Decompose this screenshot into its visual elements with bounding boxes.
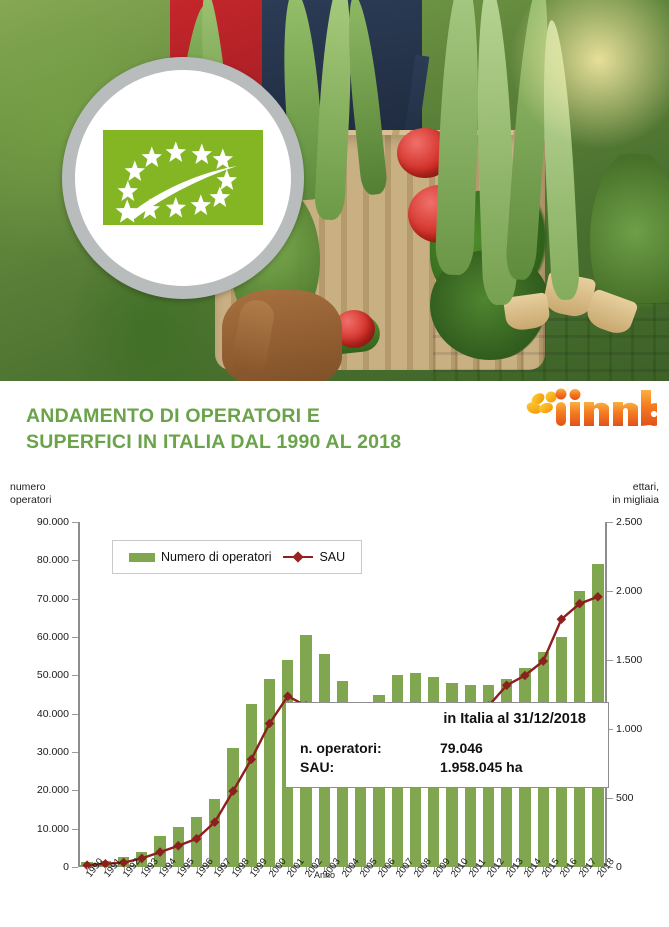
eu-organic-badge-inner	[75, 70, 291, 286]
left-axis-caption-line-2: operatori	[10, 494, 51, 507]
legend-item-operatori: Numero di operatori	[129, 550, 271, 564]
legend-bar-swatch-icon	[129, 553, 155, 562]
page-root: ANDAMENTO DI OPERATORI E SUPERFICI IN IT…	[0, 0, 669, 927]
legend-label-operatori: Numero di operatori	[161, 550, 271, 564]
legend-label-sau: SAU	[319, 550, 345, 564]
sau-marker-1995	[173, 841, 183, 851]
eu-organic-logo-icon	[103, 130, 263, 225]
infobox-heading: in Italia al 31/12/2018	[300, 711, 594, 727]
y-axis-right-tick-label: 1.500	[616, 654, 642, 666]
y-axis-right-tick-label: 500	[616, 792, 634, 804]
eu-organic-badge	[62, 57, 304, 299]
left-axis-caption-line-1: numero	[10, 481, 51, 494]
legend-item-sau: SAU	[283, 550, 345, 564]
y-axis-left-tick-label: 10.000	[37, 823, 69, 835]
hero-photo	[0, 0, 669, 381]
page-title: ANDAMENTO DI OPERATORI E SUPERFICI IN IT…	[26, 403, 496, 455]
sau-marker-1999	[246, 755, 256, 765]
y-axis-left-tick	[72, 867, 78, 868]
y-axis-left-tick-label: 0	[63, 861, 69, 873]
y-axis-right-tick-label: 2.500	[616, 516, 642, 528]
right-axis-caption-line-1: ettari,	[612, 481, 659, 494]
y-axis-right-tick	[607, 522, 613, 523]
sau-marker-1994	[155, 847, 165, 857]
y-axis-right-tick	[607, 798, 613, 799]
chart-panel: ANDAMENTO DI OPERATORI E SUPERFICI IN IT…	[0, 381, 669, 927]
sau-marker-2018	[593, 592, 603, 602]
summary-infobox: in Italia al 31/12/2018 n. operatori: 79…	[285, 702, 609, 788]
left-axis-caption: numero operatori	[10, 481, 51, 507]
y-axis-left-tick-label: 80.000	[37, 554, 69, 566]
infobox-row-sau: SAU: 1.958.045 ha	[300, 758, 594, 777]
x-axis-title: Anno	[314, 870, 335, 880]
y-axis-left-tick-label: 70.000	[37, 593, 69, 605]
page-title-line-1: ANDAMENTO DI OPERATORI E	[26, 403, 496, 429]
infobox-value-operatori: 79.046	[440, 739, 594, 758]
y-axis-left-tick-label: 50.000	[37, 669, 69, 681]
sinab-logo-icon	[525, 386, 657, 430]
y-axis-right-tick-label: 1.000	[616, 723, 642, 735]
y-axis-left-tick-label: 90.000	[37, 516, 69, 528]
chart-plot-area: 010.00020.00030.00040.00050.00060.00070.…	[78, 522, 607, 867]
right-axis-caption-line-2: in migliaia	[612, 494, 659, 507]
y-axis-left-tick-label: 20.000	[37, 784, 69, 796]
y-axis-left-tick-label: 40.000	[37, 708, 69, 720]
infobox-key-operatori: n. operatori:	[300, 739, 440, 758]
y-axis-right-tick-label: 2.000	[616, 585, 642, 597]
infobox-value-sau: 1.958.045 ha	[440, 758, 594, 777]
chart-legend: Numero di operatori SAU	[112, 540, 362, 574]
infobox-row-operatori: n. operatori: 79.046	[300, 739, 594, 758]
legend-line-swatch-icon	[283, 552, 313, 562]
infobox-key-sau: SAU:	[300, 758, 440, 777]
y-axis-right-tick	[607, 591, 613, 592]
y-axis-right-tick	[607, 660, 613, 661]
y-axis-left-tick-label: 60.000	[37, 631, 69, 643]
page-title-line-2: SUPERFICI IN ITALIA DAL 1990 AL 2018	[26, 429, 496, 455]
y-axis-left-tick-label: 30.000	[37, 746, 69, 758]
right-axis-caption: ettari, in migliaia	[612, 481, 659, 507]
